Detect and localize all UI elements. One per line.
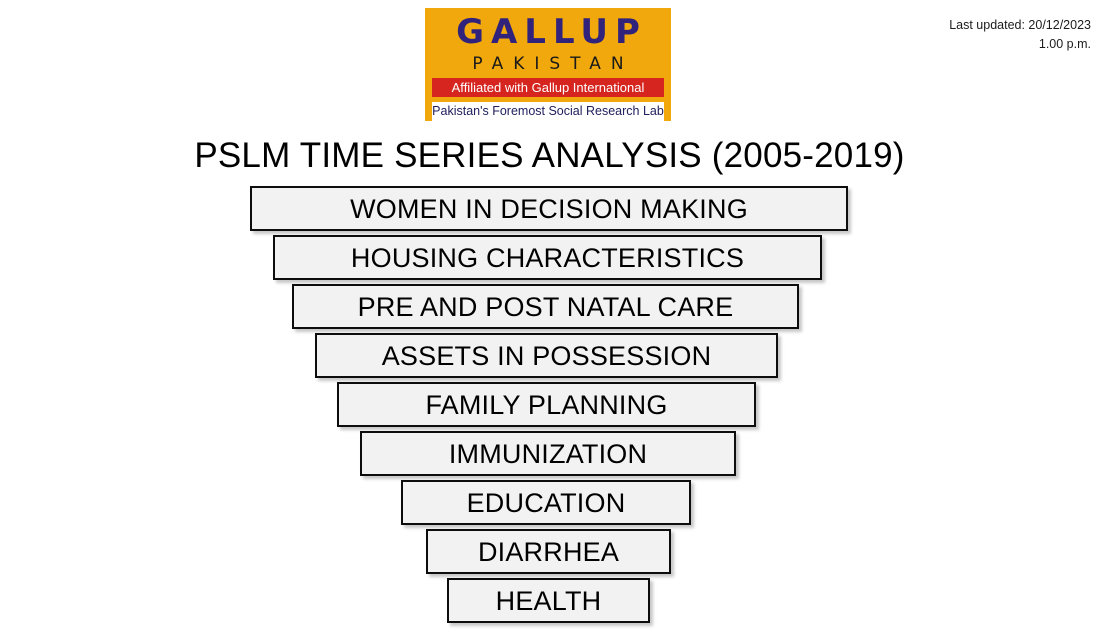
funnel-bar[interactable]: HEALTH	[447, 578, 650, 623]
last-updated-date: Last updated: 20/12/2023	[841, 16, 1091, 35]
page-title: PSLM TIME SERIES ANALYSIS (2005-2019)	[0, 134, 1099, 178]
funnel-bar-label: EDUCATION	[467, 488, 626, 518]
logo-affiliation-band: Affiliated with Gallup International	[432, 78, 664, 97]
funnel-bar[interactable]: ASSETS IN POSSESSION	[315, 333, 778, 378]
funnel-chart: WOMEN IN DECISION MAKINGHOUSING CHARACTE…	[0, 186, 1099, 629]
funnel-bar-label: DIARRHEA	[478, 537, 619, 567]
funnel-bar[interactable]: HOUSING CHARACTERISTICS	[273, 235, 822, 280]
gallup-pakistan-logo: GALLUP PAKISTAN Affiliated with Gallup I…	[425, 8, 671, 121]
funnel-bar-label: FAMILY PLANNING	[425, 390, 667, 420]
funnel-bar[interactable]: IMMUNIZATION	[360, 431, 736, 476]
funnel-bar[interactable]: DIARRHEA	[426, 529, 671, 574]
funnel-bar-label: HOUSING CHARACTERISTICS	[351, 243, 744, 273]
last-updated-stamp: Last updated: 20/12/2023 1.00 p.m.	[841, 16, 1091, 54]
logo-tagline-band: Pakistan's Foremost Social Research Lab	[432, 102, 664, 121]
funnel-bar[interactable]: WOMEN IN DECISION MAKING	[250, 186, 848, 231]
logo-brand-text: GALLUP	[425, 13, 671, 51]
funnel-bar-label: WOMEN IN DECISION MAKING	[350, 194, 748, 224]
page-header: GALLUP PAKISTAN Affiliated with Gallup I…	[0, 0, 1099, 126]
funnel-bar-label: ASSETS IN POSSESSION	[382, 341, 712, 371]
funnel-bar[interactable]: PRE AND POST NATAL CARE	[292, 284, 799, 329]
last-updated-time: 1.00 p.m.	[841, 35, 1091, 54]
funnel-bar-label: HEALTH	[496, 586, 602, 616]
funnel-bar[interactable]: FAMILY PLANNING	[337, 382, 756, 427]
logo-country-text: PAKISTAN	[425, 53, 671, 75]
funnel-bar[interactable]: EDUCATION	[401, 480, 691, 525]
funnel-bar-label: PRE AND POST NATAL CARE	[358, 292, 734, 322]
funnel-bar-label: IMMUNIZATION	[449, 439, 647, 469]
